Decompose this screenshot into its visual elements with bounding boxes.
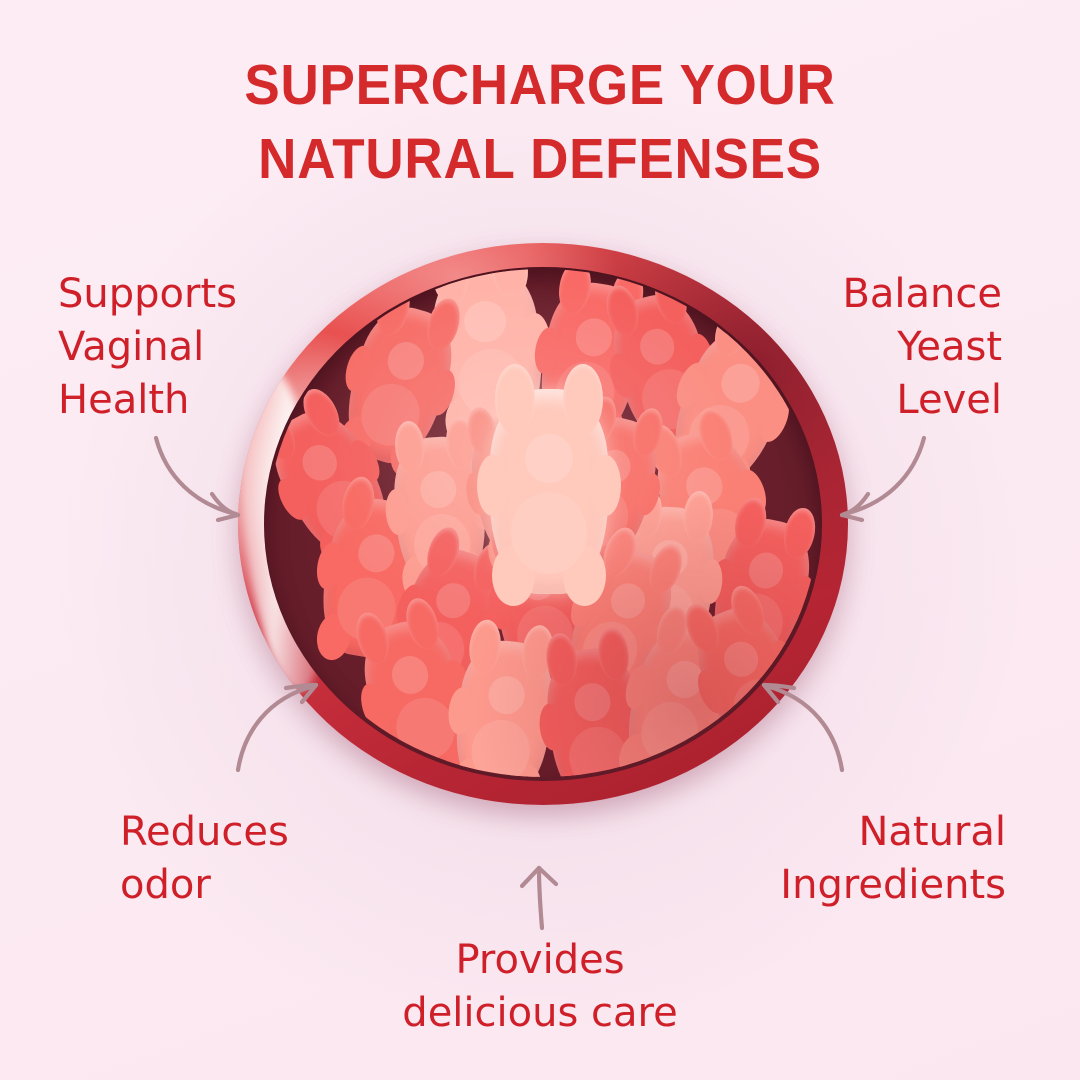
product-infographic-poster: SUPERCHARGE YOUR NATURAL DEFENSES [0,0,1080,1080]
feature-label-natural-ingredients: Natural Ingredients [780,806,1006,912]
feature-label-provides-delicious-care: Provides delicious care [0,934,1080,1040]
page-title: SUPERCHARGE YOUR NATURAL DEFENSES [0,48,1080,196]
headline-line-2: NATURAL DEFENSES [38,122,1042,196]
curved-arrow-up-left-icon [752,676,852,776]
bowl-interior [264,267,822,781]
feature-label-reduces-odor: Reduces odor [120,806,289,912]
feature-label-balance-yeast-level: Balance Yeast Level [842,268,1002,427]
headline-line-1: SUPERCHARGE YOUR [38,48,1042,122]
curved-arrow-down-right-icon [150,432,260,532]
highlighted-gummy-bear [490,389,608,594]
curved-arrow-up-right-icon [228,676,328,776]
curved-arrow-down-left-icon [820,432,930,532]
arrow-up-icon [510,862,570,930]
feature-label-supports-vaginal-health: Supports Vaginal Health [58,268,237,427]
gummy-bear-pile [268,269,818,777]
